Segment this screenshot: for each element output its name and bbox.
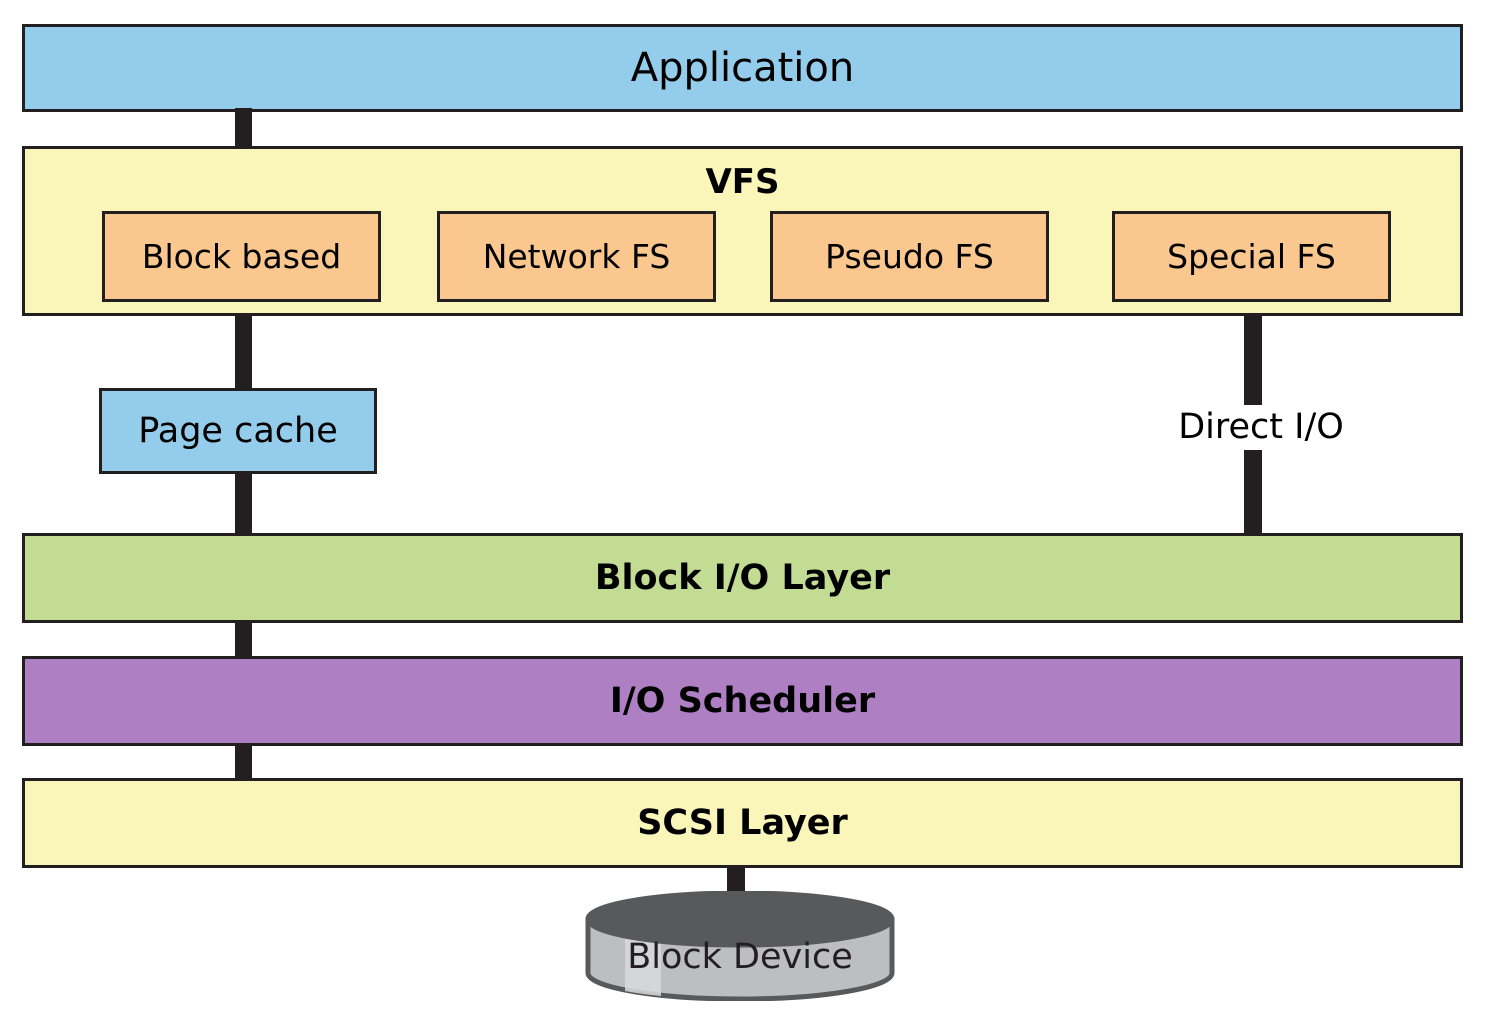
connector-block-io-to-io-scheduler <box>235 619 252 661</box>
connector-application-to-vfs <box>235 108 252 150</box>
connector-page-cache-to-block-io <box>235 468 252 538</box>
layer-block-io-label: Block I/O Layer <box>595 561 890 596</box>
connector-vfs-to-page-cache <box>235 312 252 394</box>
layer-io-scheduler[interactable]: I/O Scheduler <box>22 656 1463 746</box>
connector-special-fs-to-direct-io-upper <box>1244 312 1262 412</box>
layer-application-label: Application <box>631 48 855 88</box>
layer-io-scheduler-label: I/O Scheduler <box>610 684 875 719</box>
connector-direct-io-to-block-io-lower <box>1244 446 1262 538</box>
box-page-cache[interactable]: Page cache <box>99 388 377 474</box>
cylinder-icon <box>583 891 897 1001</box>
vfs-box-network-fs[interactable]: Network FS <box>437 211 716 302</box>
vfs-box-pseudo-fs-label: Pseudo FS <box>825 240 994 273</box>
vfs-box-pseudo-fs[interactable]: Pseudo FS <box>770 211 1049 302</box>
connector-label-direct-io: Direct I/O <box>1160 405 1362 450</box>
block-device-cylinder[interactable]: Block Device <box>583 891 897 1001</box>
vfs-box-network-fs-label: Network FS <box>483 240 671 273</box>
vfs-box-block-based[interactable]: Block based <box>102 211 381 302</box>
vfs-box-special-fs[interactable]: Special FS <box>1112 211 1391 302</box>
layer-application[interactable]: Application <box>22 24 1463 112</box>
box-page-cache-label: Page cache <box>138 414 338 449</box>
layer-vfs-label: VFS <box>25 165 1460 199</box>
layer-scsi-label: SCSI Layer <box>637 806 848 841</box>
vfs-box-block-based-label: Block based <box>142 240 341 273</box>
diagram-canvas: Application VFS Block based Network FS P… <box>0 0 1488 1028</box>
layer-vfs[interactable]: VFS Block based Network FS Pseudo FS Spe… <box>22 146 1463 316</box>
vfs-box-special-fs-label: Special FS <box>1167 240 1336 273</box>
layer-scsi[interactable]: SCSI Layer <box>22 778 1463 868</box>
layer-block-io[interactable]: Block I/O Layer <box>22 533 1463 623</box>
